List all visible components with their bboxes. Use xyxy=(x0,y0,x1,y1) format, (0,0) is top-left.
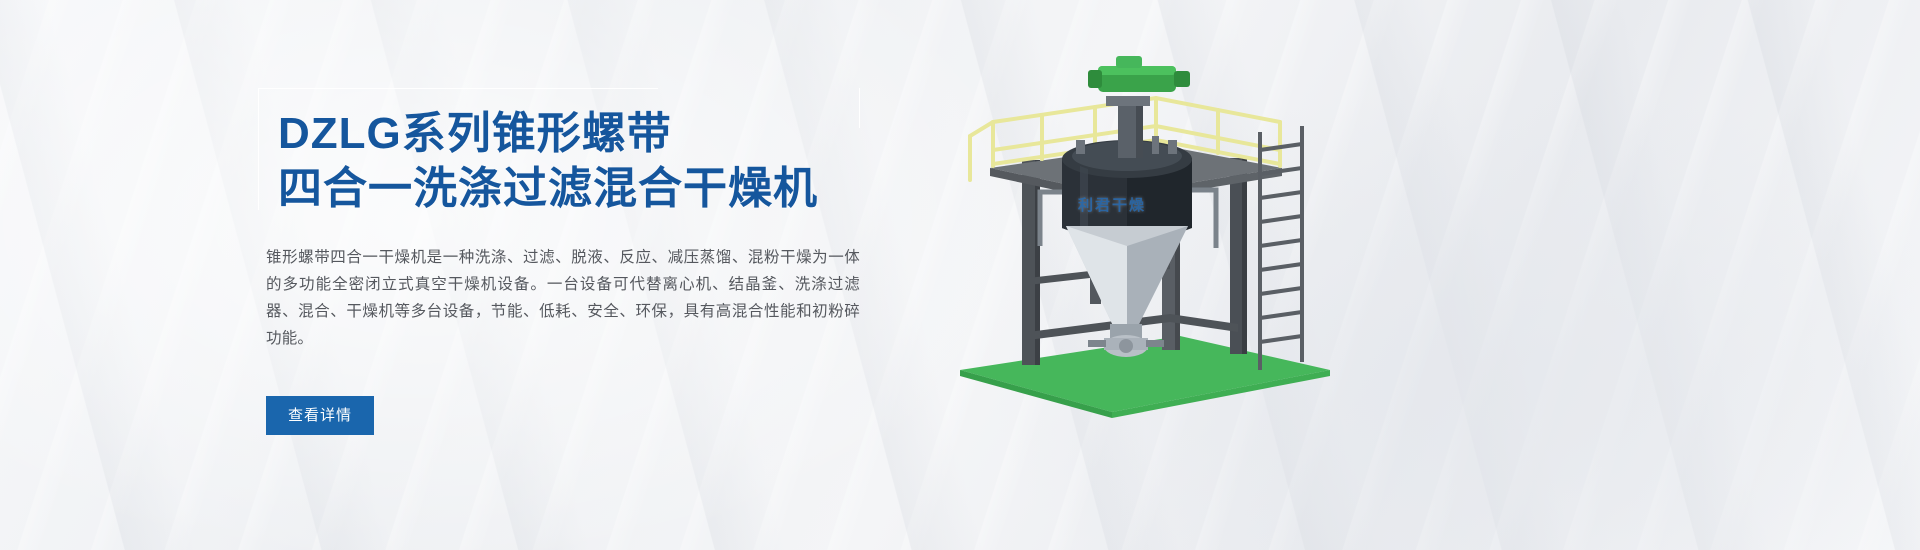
hero-banner: DZLG系列锥形螺带 四合一洗涤过滤混合干燥机 锥形螺带四合一干燥机是一种洗涤、… xyxy=(0,0,1920,550)
hero-title-line-2: 四合一洗涤过滤混合干燥机 xyxy=(272,161,878,216)
hero-title-line-1: DZLG系列锥形螺带 xyxy=(272,106,878,161)
title-frame: DZLG系列锥形螺带 四合一洗涤过滤混合干燥机 xyxy=(258,88,878,222)
hero-copy-block: DZLG系列锥形螺带 四合一洗涤过滤混合干燥机 锥形螺带四合一干燥机是一种洗涤、… xyxy=(258,88,878,435)
product-illustration xyxy=(930,40,1350,420)
product-watermark: 利君干燥 xyxy=(1078,194,1146,215)
hero-description: 锥形螺带四合一干燥机是一种洗涤、过滤、脱液、反应、减压蒸馏、混粉干燥为一体的多功… xyxy=(258,244,860,352)
view-details-button[interactable]: 查看详情 xyxy=(266,396,374,435)
title-frame-right-edge xyxy=(859,88,860,128)
drive-motor xyxy=(1088,56,1190,92)
